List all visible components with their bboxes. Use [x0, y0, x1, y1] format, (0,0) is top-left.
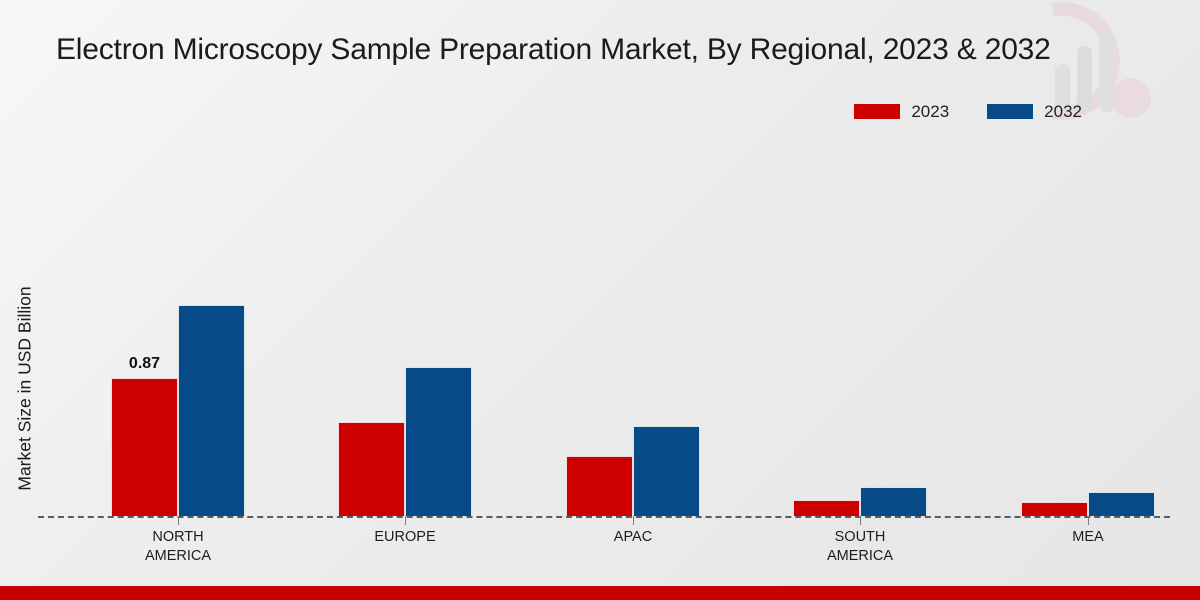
- footer-accent-bar: [0, 586, 1200, 600]
- bar-2023-europe[interactable]: [338, 422, 405, 516]
- plot-area: 0.87 NORTHAMERICAEUROPEAPACSOUTHAMERICAM…: [0, 0, 1200, 600]
- bar-pair: [1021, 492, 1155, 516]
- x-axis-tick: [178, 516, 179, 525]
- x-axis-tick: [860, 516, 861, 525]
- x-axis-label: NORTHAMERICA: [145, 528, 211, 566]
- x-axis-tick: [1088, 516, 1089, 525]
- bar-pair: [566, 426, 700, 516]
- bar-2032-apac[interactable]: [633, 426, 700, 516]
- x-axis-label: EUROPE: [374, 528, 435, 547]
- x-axis-tick: [405, 516, 406, 525]
- x-axis-label: MEA: [1072, 528, 1103, 547]
- bar-pair: [793, 487, 927, 516]
- bar-2023-south-america[interactable]: [793, 500, 860, 516]
- bar-2032-north-america[interactable]: [178, 305, 245, 516]
- x-axis-tick: [633, 516, 634, 525]
- bar-pair: 0.87: [111, 305, 245, 516]
- chart-page: Electron Microscopy Sample Preparation M…: [0, 0, 1200, 600]
- x-axis-labels: NORTHAMERICAEUROPEAPACSOUTHAMERICAMEA: [0, 516, 1200, 586]
- bar-value-label: 0.87: [129, 355, 160, 373]
- bar-pair: [338, 367, 472, 516]
- x-axis-label: APAC: [614, 528, 652, 547]
- bar-2023-mea[interactable]: [1021, 502, 1088, 516]
- bar-2032-mea[interactable]: [1088, 492, 1155, 516]
- bar-2032-south-america[interactable]: [860, 487, 927, 516]
- bar-2023-apac[interactable]: [566, 456, 633, 516]
- bar-2032-europe[interactable]: [405, 367, 472, 516]
- x-axis-label: SOUTHAMERICA: [827, 528, 893, 566]
- bar-2023-north-america[interactable]: 0.87: [111, 378, 178, 516]
